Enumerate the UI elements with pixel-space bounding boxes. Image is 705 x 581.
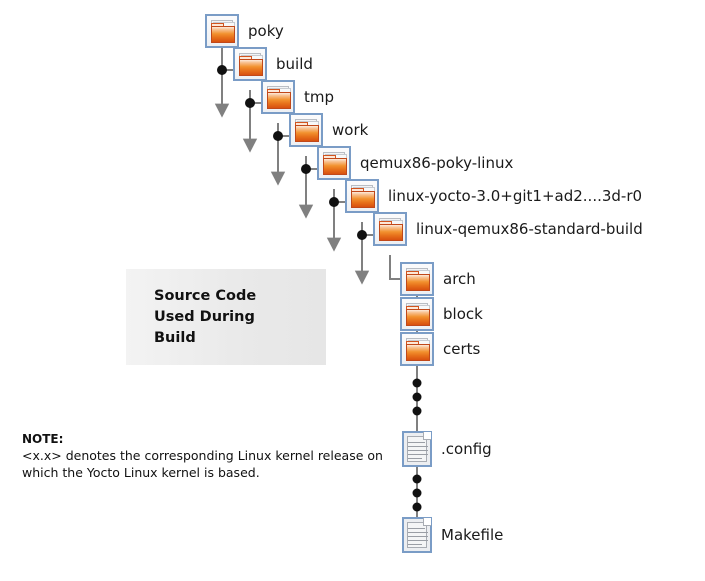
tree-node-arch[interactable]: arch	[400, 262, 476, 296]
folder-icon	[373, 212, 407, 246]
callout-text: Source Code Used During Build	[154, 286, 256, 349]
tree-node-label: linux-qemux86-standard-build	[416, 222, 643, 237]
tree-node-label: qemux86-poky-linux	[360, 156, 513, 171]
note-heading: NOTE:	[22, 431, 392, 447]
tree-node-certs[interactable]: certs	[400, 332, 480, 366]
note-block: NOTE: <x.x> denotes the corresponding Li…	[22, 431, 392, 481]
tree-node-label: certs	[443, 342, 480, 357]
folder-icon	[233, 47, 267, 81]
ellipsis-dots-lower	[413, 475, 422, 512]
tree-node-linux-yocto[interactable]: linux-yocto-3.0+git1+ad2....3d-r0	[345, 179, 642, 213]
tree-node-label: linux-yocto-3.0+git1+ad2....3d-r0	[388, 189, 642, 204]
tree-node-label: .config	[441, 442, 492, 457]
ellipsis-dots-upper	[413, 379, 422, 416]
note-line-2: which the Yocto Linux kernel is based.	[22, 464, 392, 481]
document-icon	[402, 517, 432, 553]
source-code-callout-box: Source Code Used During Build	[126, 269, 326, 365]
tree-node-dot-config[interactable]: .config	[402, 431, 492, 467]
folder-icon	[205, 14, 239, 48]
folder-icon	[400, 332, 434, 366]
folder-icon	[345, 179, 379, 213]
tree-node-label: block	[443, 307, 483, 322]
folder-icon	[261, 80, 295, 114]
tree-node-linux-qemux86-standard-build[interactable]: linux-qemux86-standard-build	[373, 212, 643, 246]
tree-node-label: tmp	[304, 90, 334, 105]
connector-layer	[0, 0, 705, 581]
folder-icon	[289, 113, 323, 147]
tree-node-label: build	[276, 57, 313, 72]
folder-icon	[400, 297, 434, 331]
tree-node-tmp[interactable]: tmp	[261, 80, 334, 114]
tree-node-makefile[interactable]: Makefile	[402, 517, 503, 553]
callout-line-2: Used During	[154, 307, 256, 328]
tree-node-label: poky	[248, 24, 284, 39]
folder-icon	[317, 146, 351, 180]
tree-node-label: work	[332, 123, 368, 138]
diagram-canvas: poky build tmp work qemux86-poky-linux	[0, 0, 705, 581]
note-line-1: <x.x> denotes the corresponding Linux ke…	[22, 447, 392, 464]
tree-node-build[interactable]: build	[233, 47, 313, 81]
callout-line-3: Build	[154, 328, 256, 349]
folder-icon	[400, 262, 434, 296]
tree-node-label: arch	[443, 272, 476, 287]
callout-line-1: Source Code	[154, 286, 256, 307]
tree-node-block[interactable]: block	[400, 297, 483, 331]
tree-node-poky[interactable]: poky	[205, 14, 284, 48]
tree-node-label: Makefile	[441, 528, 503, 543]
tree-node-qemux86-poky-linux[interactable]: qemux86-poky-linux	[317, 146, 513, 180]
tree-node-work[interactable]: work	[289, 113, 368, 147]
document-icon	[402, 431, 432, 467]
